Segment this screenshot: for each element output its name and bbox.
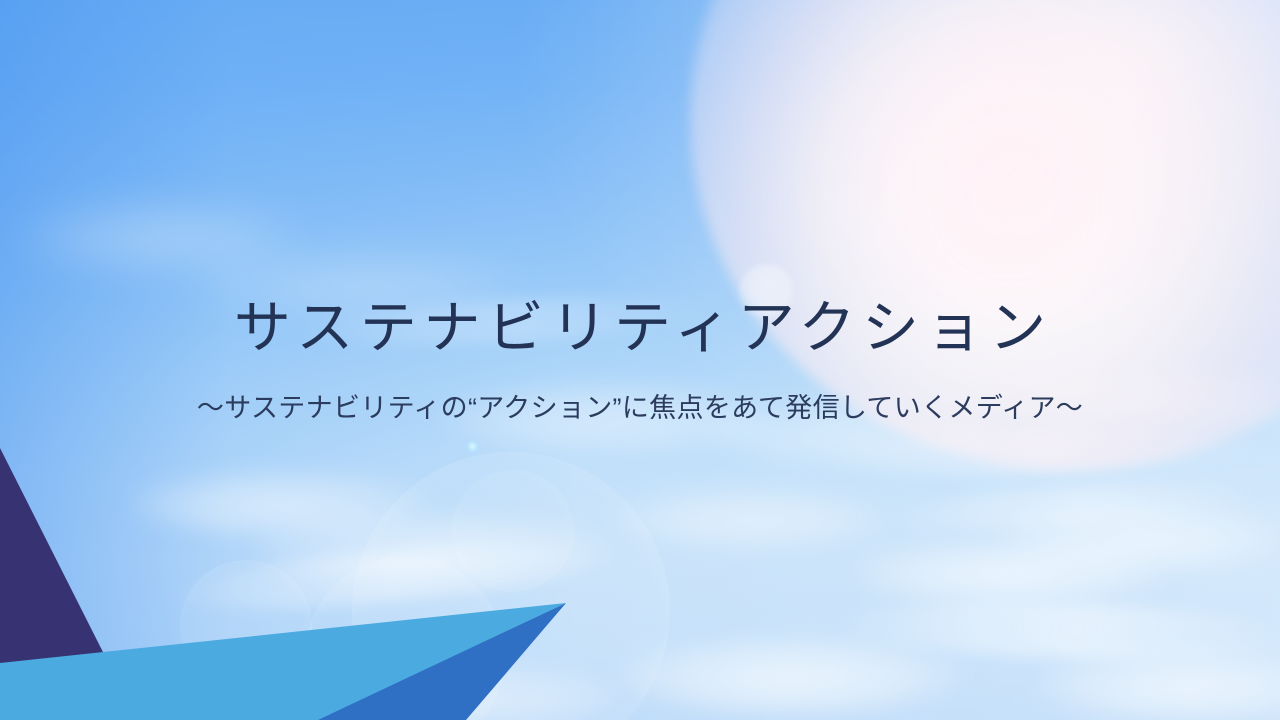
page-title: サステナビリティアクション — [0, 296, 1280, 362]
title-slide: サステナビリティアクション 〜サステナビリティの“アクション”に焦点をあて発信し… — [0, 0, 1280, 720]
title-text-block: サステナビリティアクション 〜サステナビリティの“アクション”に焦点をあて発信し… — [0, 296, 1280, 424]
page-subtitle: 〜サステナビリティの“アクション”に焦点をあて発信していくメディア〜 — [0, 392, 1280, 424]
navy-wedge-shape — [0, 448, 109, 664]
